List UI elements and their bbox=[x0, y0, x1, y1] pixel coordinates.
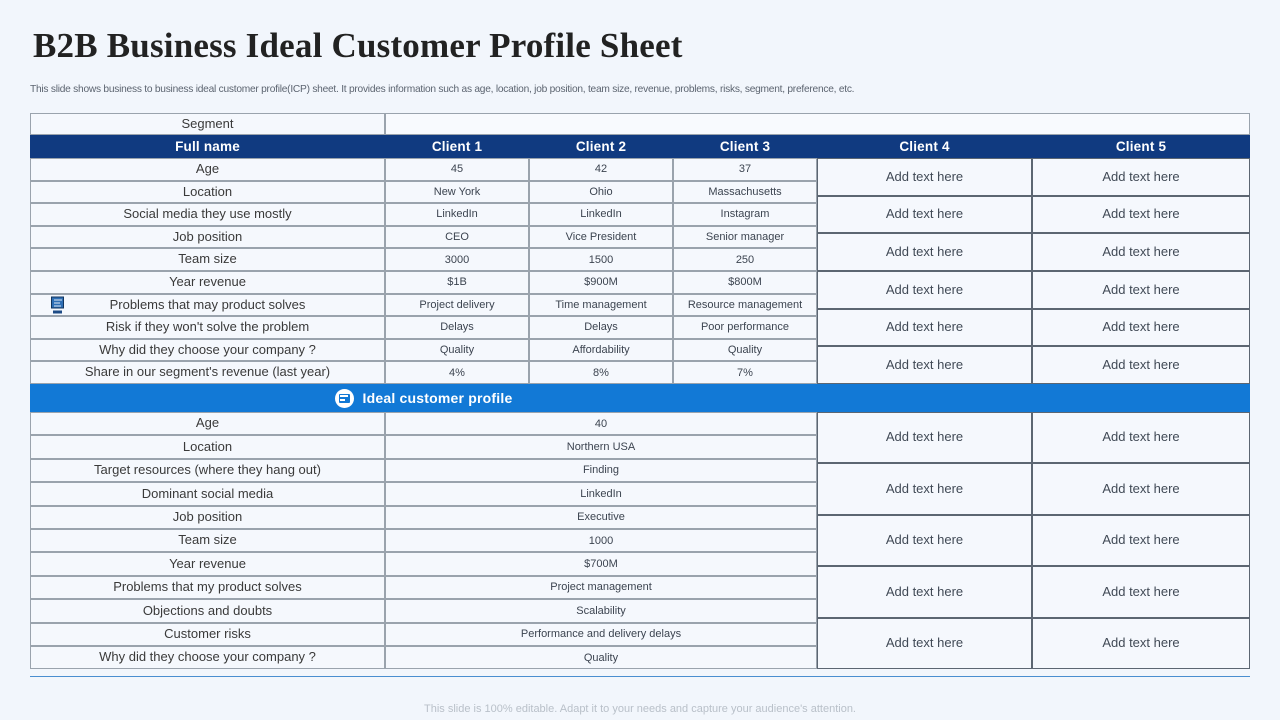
row-label-upper-0-text: Age bbox=[196, 162, 219, 177]
cell-icp-value-2[interactable]: Finding bbox=[385, 459, 817, 482]
cell-client5-lower-2[interactable]: Add text here bbox=[1032, 515, 1250, 566]
cell-client4-upper-4[interactable]: Add text here bbox=[817, 309, 1032, 347]
cell-icp-value-5-text: 1000 bbox=[589, 535, 613, 547]
header-client-5-cell: Client 5 bbox=[1032, 135, 1250, 158]
cell-icp-value-8-text: Scalability bbox=[576, 605, 626, 617]
cell-client2-upper-5-text: $900M bbox=[584, 276, 618, 288]
ideal-customer-profile-table: SegmentFull nameClient 1Client 2Client 3… bbox=[30, 113, 1250, 677]
cell-client1-upper-7[interactable]: Delays bbox=[385, 316, 529, 339]
cell-client5-upper-1-text: Add text here bbox=[1102, 207, 1179, 222]
cell-client3-upper-4[interactable]: 250 bbox=[673, 248, 817, 271]
cell-client4-upper-2[interactable]: Add text here bbox=[817, 233, 1032, 271]
cell-client3-upper-1[interactable]: Massachusetts bbox=[673, 181, 817, 204]
cell-client1-upper-8[interactable]: Quality bbox=[385, 339, 529, 362]
cell-client1-upper-7-text: Delays bbox=[440, 321, 474, 333]
cell-client5-lower-1[interactable]: Add text here bbox=[1032, 463, 1250, 514]
cell-client5-lower-4-text: Add text here bbox=[1102, 636, 1179, 651]
row-label-lower-3-text: Dominant social media bbox=[142, 487, 274, 502]
row-label-upper-2-text: Social media they use mostly bbox=[123, 207, 291, 222]
cell-client5-upper-4-text: Add text here bbox=[1102, 320, 1179, 335]
cell-icp-value-4-text: Executive bbox=[577, 511, 625, 523]
cell-icp-value-2-text: Finding bbox=[583, 464, 619, 476]
cell-icp-value-6-text: $700M bbox=[584, 558, 618, 570]
row-label-upper-5: Year revenue bbox=[30, 271, 385, 294]
row-label-upper-4: Team size bbox=[30, 248, 385, 271]
header-full-name-cell: Full name bbox=[30, 135, 385, 158]
cell-client2-upper-1[interactable]: Ohio bbox=[529, 181, 673, 204]
cell-client1-upper-1[interactable]: New York bbox=[385, 181, 529, 204]
cell-icp-value-1[interactable]: Northern USA bbox=[385, 435, 817, 458]
page-title: B2B Business Ideal Customer Profile Shee… bbox=[33, 26, 683, 66]
cell-client4-upper-5[interactable]: Add text here bbox=[817, 346, 1032, 384]
row-label-upper-9: Share in our segment's revenue (last yea… bbox=[30, 361, 385, 384]
cell-client2-upper-3-text: Vice President bbox=[566, 231, 637, 243]
cell-client5-upper-3[interactable]: Add text here bbox=[1032, 271, 1250, 309]
cell-client1-upper-0[interactable]: 45 bbox=[385, 158, 529, 181]
row-label-upper-7-text: Risk if they won't solve the problem bbox=[106, 320, 309, 335]
cell-client4-lower-3-text: Add text here bbox=[886, 585, 963, 600]
cell-client4-lower-4[interactable]: Add text here bbox=[817, 618, 1032, 669]
header-full-name-cell-text: Full name bbox=[175, 139, 240, 154]
cell-client1-upper-3[interactable]: CEO bbox=[385, 226, 529, 249]
ideal-customer-profile-band-right bbox=[817, 384, 1250, 412]
row-label-lower-4-text: Job position bbox=[173, 510, 242, 525]
cell-client3-upper-2-text: Instagram bbox=[721, 208, 770, 220]
ideal-customer-profile-band: Ideal customer profile bbox=[30, 384, 817, 412]
row-label-lower-7-text: Problems that my product solves bbox=[113, 580, 302, 595]
row-label-lower-8-text: Objections and doubts bbox=[143, 604, 272, 619]
cell-client3-upper-2[interactable]: Instagram bbox=[673, 203, 817, 226]
cell-client4-upper-3[interactable]: Add text here bbox=[817, 271, 1032, 309]
row-label-lower-5-text: Team size bbox=[178, 533, 237, 548]
row-label-upper-6: Problems that may product solves bbox=[30, 294, 385, 317]
cell-client5-lower-0-text: Add text here bbox=[1102, 430, 1179, 445]
row-label-lower-8: Objections and doubts bbox=[30, 599, 385, 622]
cell-client5-upper-0[interactable]: Add text here bbox=[1032, 158, 1250, 196]
row-label-lower-2: Target resources (where they hang out) bbox=[30, 459, 385, 482]
cell-client5-upper-3-text: Add text here bbox=[1102, 283, 1179, 298]
row-label-upper-0: Age bbox=[30, 158, 385, 181]
cell-client3-upper-6-text: Resource management bbox=[688, 299, 802, 311]
cell-icp-value-6[interactable]: $700M bbox=[385, 552, 817, 575]
row-label-lower-4: Job position bbox=[30, 506, 385, 529]
cell-client2-upper-0-text: 42 bbox=[595, 163, 607, 175]
cell-client3-upper-0[interactable]: 37 bbox=[673, 158, 817, 181]
cell-client4-lower-3[interactable]: Add text here bbox=[817, 566, 1032, 617]
row-label-lower-5: Team size bbox=[30, 529, 385, 552]
cell-icp-value-8[interactable]: Scalability bbox=[385, 599, 817, 622]
cell-icp-value-9-text: Performance and delivery delays bbox=[521, 628, 681, 640]
cell-icp-value-3[interactable]: LinkedIn bbox=[385, 482, 817, 505]
cell-client4-lower-0[interactable]: Add text here bbox=[817, 412, 1032, 463]
cell-client4-lower-2-text: Add text here bbox=[886, 533, 963, 548]
row-label-upper-8: Why did they choose your company ? bbox=[30, 339, 385, 362]
cell-client5-lower-3[interactable]: Add text here bbox=[1032, 566, 1250, 617]
cell-client2-upper-5[interactable]: $900M bbox=[529, 271, 673, 294]
ideal-customer-profile-band-label: Ideal customer profile bbox=[363, 390, 513, 406]
row-label-lower-10-text: Why did they choose your company ? bbox=[99, 650, 316, 665]
segment-value-cell[interactable] bbox=[385, 113, 1250, 135]
cell-client5-upper-0-text: Add text here bbox=[1102, 170, 1179, 185]
header-client-3-cell: Client 3 bbox=[673, 135, 817, 158]
cell-client3-upper-0-text: 37 bbox=[739, 163, 751, 175]
page-subtitle: This slide shows business to business id… bbox=[30, 83, 854, 95]
cell-client3-upper-8[interactable]: Quality bbox=[673, 339, 817, 362]
cell-client5-lower-3-text: Add text here bbox=[1102, 585, 1179, 600]
cell-client2-upper-1-text: Ohio bbox=[589, 186, 612, 198]
cell-client5-upper-5[interactable]: Add text here bbox=[1032, 346, 1250, 384]
row-label-upper-8-text: Why did they choose your company ? bbox=[99, 343, 316, 358]
row-label-lower-0: Age bbox=[30, 412, 385, 435]
cell-client1-upper-4-text: 3000 bbox=[445, 254, 469, 266]
cell-client5-upper-5-text: Add text here bbox=[1102, 358, 1179, 373]
cell-client4-lower-4-text: Add text here bbox=[886, 636, 963, 651]
table-grid: SegmentFull nameClient 1Client 2Client 3… bbox=[30, 113, 1250, 677]
cell-icp-value-7-text: Project management bbox=[550, 581, 652, 593]
segment-label-cell-text: Segment bbox=[181, 117, 233, 132]
cell-client3-upper-5-text: $800M bbox=[728, 276, 762, 288]
cell-client3-upper-3[interactable]: Senior manager bbox=[673, 226, 817, 249]
row-label-lower-6-text: Year revenue bbox=[169, 557, 246, 572]
cell-client4-upper-1[interactable]: Add text here bbox=[817, 196, 1032, 234]
cell-icp-value-0-text: 40 bbox=[595, 418, 607, 430]
cell-icp-value-7[interactable]: Project management bbox=[385, 576, 817, 599]
cell-client3-upper-9[interactable]: 7% bbox=[673, 361, 817, 384]
cell-client4-upper-2-text: Add text here bbox=[886, 245, 963, 260]
row-label-lower-1-text: Location bbox=[183, 440, 232, 455]
cell-client3-upper-3-text: Senior manager bbox=[706, 231, 784, 243]
cell-client3-upper-7[interactable]: Poor performance bbox=[673, 316, 817, 339]
cell-client2-upper-7[interactable]: Delays bbox=[529, 316, 673, 339]
cell-client4-upper-0-text: Add text here bbox=[886, 170, 963, 185]
cell-icp-value-3-text: LinkedIn bbox=[580, 488, 622, 500]
cell-client2-upper-8[interactable]: Affordability bbox=[529, 339, 673, 362]
cell-client2-upper-2[interactable]: LinkedIn bbox=[529, 203, 673, 226]
footer-note: This slide is 100% editable. Adapt it to… bbox=[0, 703, 1280, 715]
row-label-lower-7: Problems that my product solves bbox=[30, 576, 385, 599]
cell-client4-upper-4-text: Add text here bbox=[886, 320, 963, 335]
row-label-upper-1-text: Location bbox=[183, 185, 232, 200]
cell-client5-upper-1[interactable]: Add text here bbox=[1032, 196, 1250, 234]
header-client-2-cell: Client 2 bbox=[529, 135, 673, 158]
cell-client1-upper-9-text: 4% bbox=[449, 367, 465, 379]
cell-client1-upper-6[interactable]: Project delivery bbox=[385, 294, 529, 317]
cell-client5-lower-1-text: Add text here bbox=[1102, 482, 1179, 497]
cell-client4-upper-5-text: Add text here bbox=[886, 358, 963, 373]
cell-client1-upper-9[interactable]: 4% bbox=[385, 361, 529, 384]
cell-client1-upper-3-text: CEO bbox=[445, 231, 469, 243]
cell-client5-lower-4[interactable]: Add text here bbox=[1032, 618, 1250, 669]
cell-client5-upper-2-text: Add text here bbox=[1102, 245, 1179, 260]
cell-client1-upper-5-text: $1B bbox=[447, 276, 467, 288]
cell-client3-upper-8-text: Quality bbox=[728, 344, 762, 356]
cell-client2-upper-6-text: Time management bbox=[555, 299, 646, 311]
row-label-upper-3-text: Job position bbox=[173, 230, 242, 245]
cell-client3-upper-6[interactable]: Resource management bbox=[673, 294, 817, 317]
cell-client1-upper-6-text: Project delivery bbox=[419, 299, 494, 311]
cell-client4-lower-1-text: Add text here bbox=[886, 482, 963, 497]
cell-client2-upper-3[interactable]: Vice President bbox=[529, 226, 673, 249]
cell-icp-value-10-text: Quality bbox=[584, 652, 618, 664]
cell-client5-lower-2-text: Add text here bbox=[1102, 533, 1179, 548]
cell-client4-upper-3-text: Add text here bbox=[886, 283, 963, 298]
row-label-upper-1: Location bbox=[30, 181, 385, 204]
header-client-1-cell-text: Client 1 bbox=[432, 139, 482, 154]
cell-client3-upper-1-text: Massachusetts bbox=[708, 186, 781, 198]
cell-client2-upper-9[interactable]: 8% bbox=[529, 361, 673, 384]
cell-client5-lower-0[interactable]: Add text here bbox=[1032, 412, 1250, 463]
cell-client4-lower-0-text: Add text here bbox=[886, 430, 963, 445]
row-label-lower-3: Dominant social media bbox=[30, 482, 385, 505]
cell-client2-upper-7-text: Delays bbox=[584, 321, 618, 333]
row-label-lower-6: Year revenue bbox=[30, 552, 385, 575]
cell-client2-upper-6[interactable]: Time management bbox=[529, 294, 673, 317]
profile-screen-icon bbox=[335, 389, 354, 408]
row-label-lower-10: Why did they choose your company ? bbox=[30, 646, 385, 669]
cell-client2-upper-4-text: 1500 bbox=[589, 254, 613, 266]
cell-client1-upper-2-text: LinkedIn bbox=[436, 208, 478, 220]
cell-client3-upper-4-text: 250 bbox=[736, 254, 754, 266]
cell-client5-upper-2[interactable]: Add text here bbox=[1032, 233, 1250, 271]
cell-icp-value-0[interactable]: 40 bbox=[385, 412, 817, 435]
row-label-upper-9-text: Share in our segment's revenue (last yea… bbox=[85, 365, 330, 380]
row-label-upper-3: Job position bbox=[30, 226, 385, 249]
header-client-5-cell-text: Client 5 bbox=[1116, 139, 1166, 154]
monitor-icon bbox=[49, 296, 66, 313]
row-label-upper-5-text: Year revenue bbox=[169, 275, 246, 290]
row-label-lower-9: Customer risks bbox=[30, 623, 385, 646]
cell-client3-upper-9-text: 7% bbox=[737, 367, 753, 379]
cell-client3-upper-5[interactable]: $800M bbox=[673, 271, 817, 294]
row-label-lower-1: Location bbox=[30, 435, 385, 458]
cell-client4-lower-1[interactable]: Add text here bbox=[817, 463, 1032, 514]
row-label-lower-2-text: Target resources (where they hang out) bbox=[94, 463, 321, 478]
header-client-4-cell-text: Client 4 bbox=[899, 139, 949, 154]
cell-client2-upper-2-text: LinkedIn bbox=[580, 208, 622, 220]
row-label-upper-2: Social media they use mostly bbox=[30, 203, 385, 226]
row-label-lower-0-text: Age bbox=[196, 416, 219, 431]
cell-client4-upper-0[interactable]: Add text here bbox=[817, 158, 1032, 196]
cell-icp-value-4[interactable]: Executive bbox=[385, 506, 817, 529]
cell-client2-upper-4[interactable]: 1500 bbox=[529, 248, 673, 271]
cell-client2-upper-0[interactable]: 42 bbox=[529, 158, 673, 181]
cell-client5-upper-4[interactable]: Add text here bbox=[1032, 309, 1250, 347]
cell-icp-value-1-text: Northern USA bbox=[567, 441, 635, 453]
row-label-upper-6-text: Problems that may product solves bbox=[110, 298, 306, 313]
row-label-upper-7: Risk if they won't solve the problem bbox=[30, 316, 385, 339]
cell-client1-upper-2[interactable]: LinkedIn bbox=[385, 203, 529, 226]
cell-client3-upper-7-text: Poor performance bbox=[701, 321, 789, 333]
table-bottom-accent-border bbox=[30, 676, 1250, 677]
cell-client1-upper-0-text: 45 bbox=[451, 163, 463, 175]
header-client-3-cell-text: Client 3 bbox=[720, 139, 770, 154]
header-client-4-cell: Client 4 bbox=[817, 135, 1032, 158]
cell-client1-upper-8-text: Quality bbox=[440, 344, 474, 356]
cell-icp-value-10[interactable]: Quality bbox=[385, 646, 817, 669]
cell-client4-upper-1-text: Add text here bbox=[886, 207, 963, 222]
header-client-2-cell-text: Client 2 bbox=[576, 139, 626, 154]
header-client-1-cell: Client 1 bbox=[385, 135, 529, 158]
cell-client1-upper-5[interactable]: $1B bbox=[385, 271, 529, 294]
cell-icp-value-5[interactable]: 1000 bbox=[385, 529, 817, 552]
cell-client2-upper-8-text: Affordability bbox=[572, 344, 629, 356]
cell-icp-value-9[interactable]: Performance and delivery delays bbox=[385, 623, 817, 646]
row-label-upper-4-text: Team size bbox=[178, 252, 237, 267]
cell-client4-lower-2[interactable]: Add text here bbox=[817, 515, 1032, 566]
cell-client1-upper-4[interactable]: 3000 bbox=[385, 248, 529, 271]
row-label-lower-9-text: Customer risks bbox=[164, 627, 251, 642]
cell-client2-upper-9-text: 8% bbox=[593, 367, 609, 379]
cell-client1-upper-1-text: New York bbox=[434, 186, 480, 198]
segment-label-cell: Segment bbox=[30, 113, 385, 135]
